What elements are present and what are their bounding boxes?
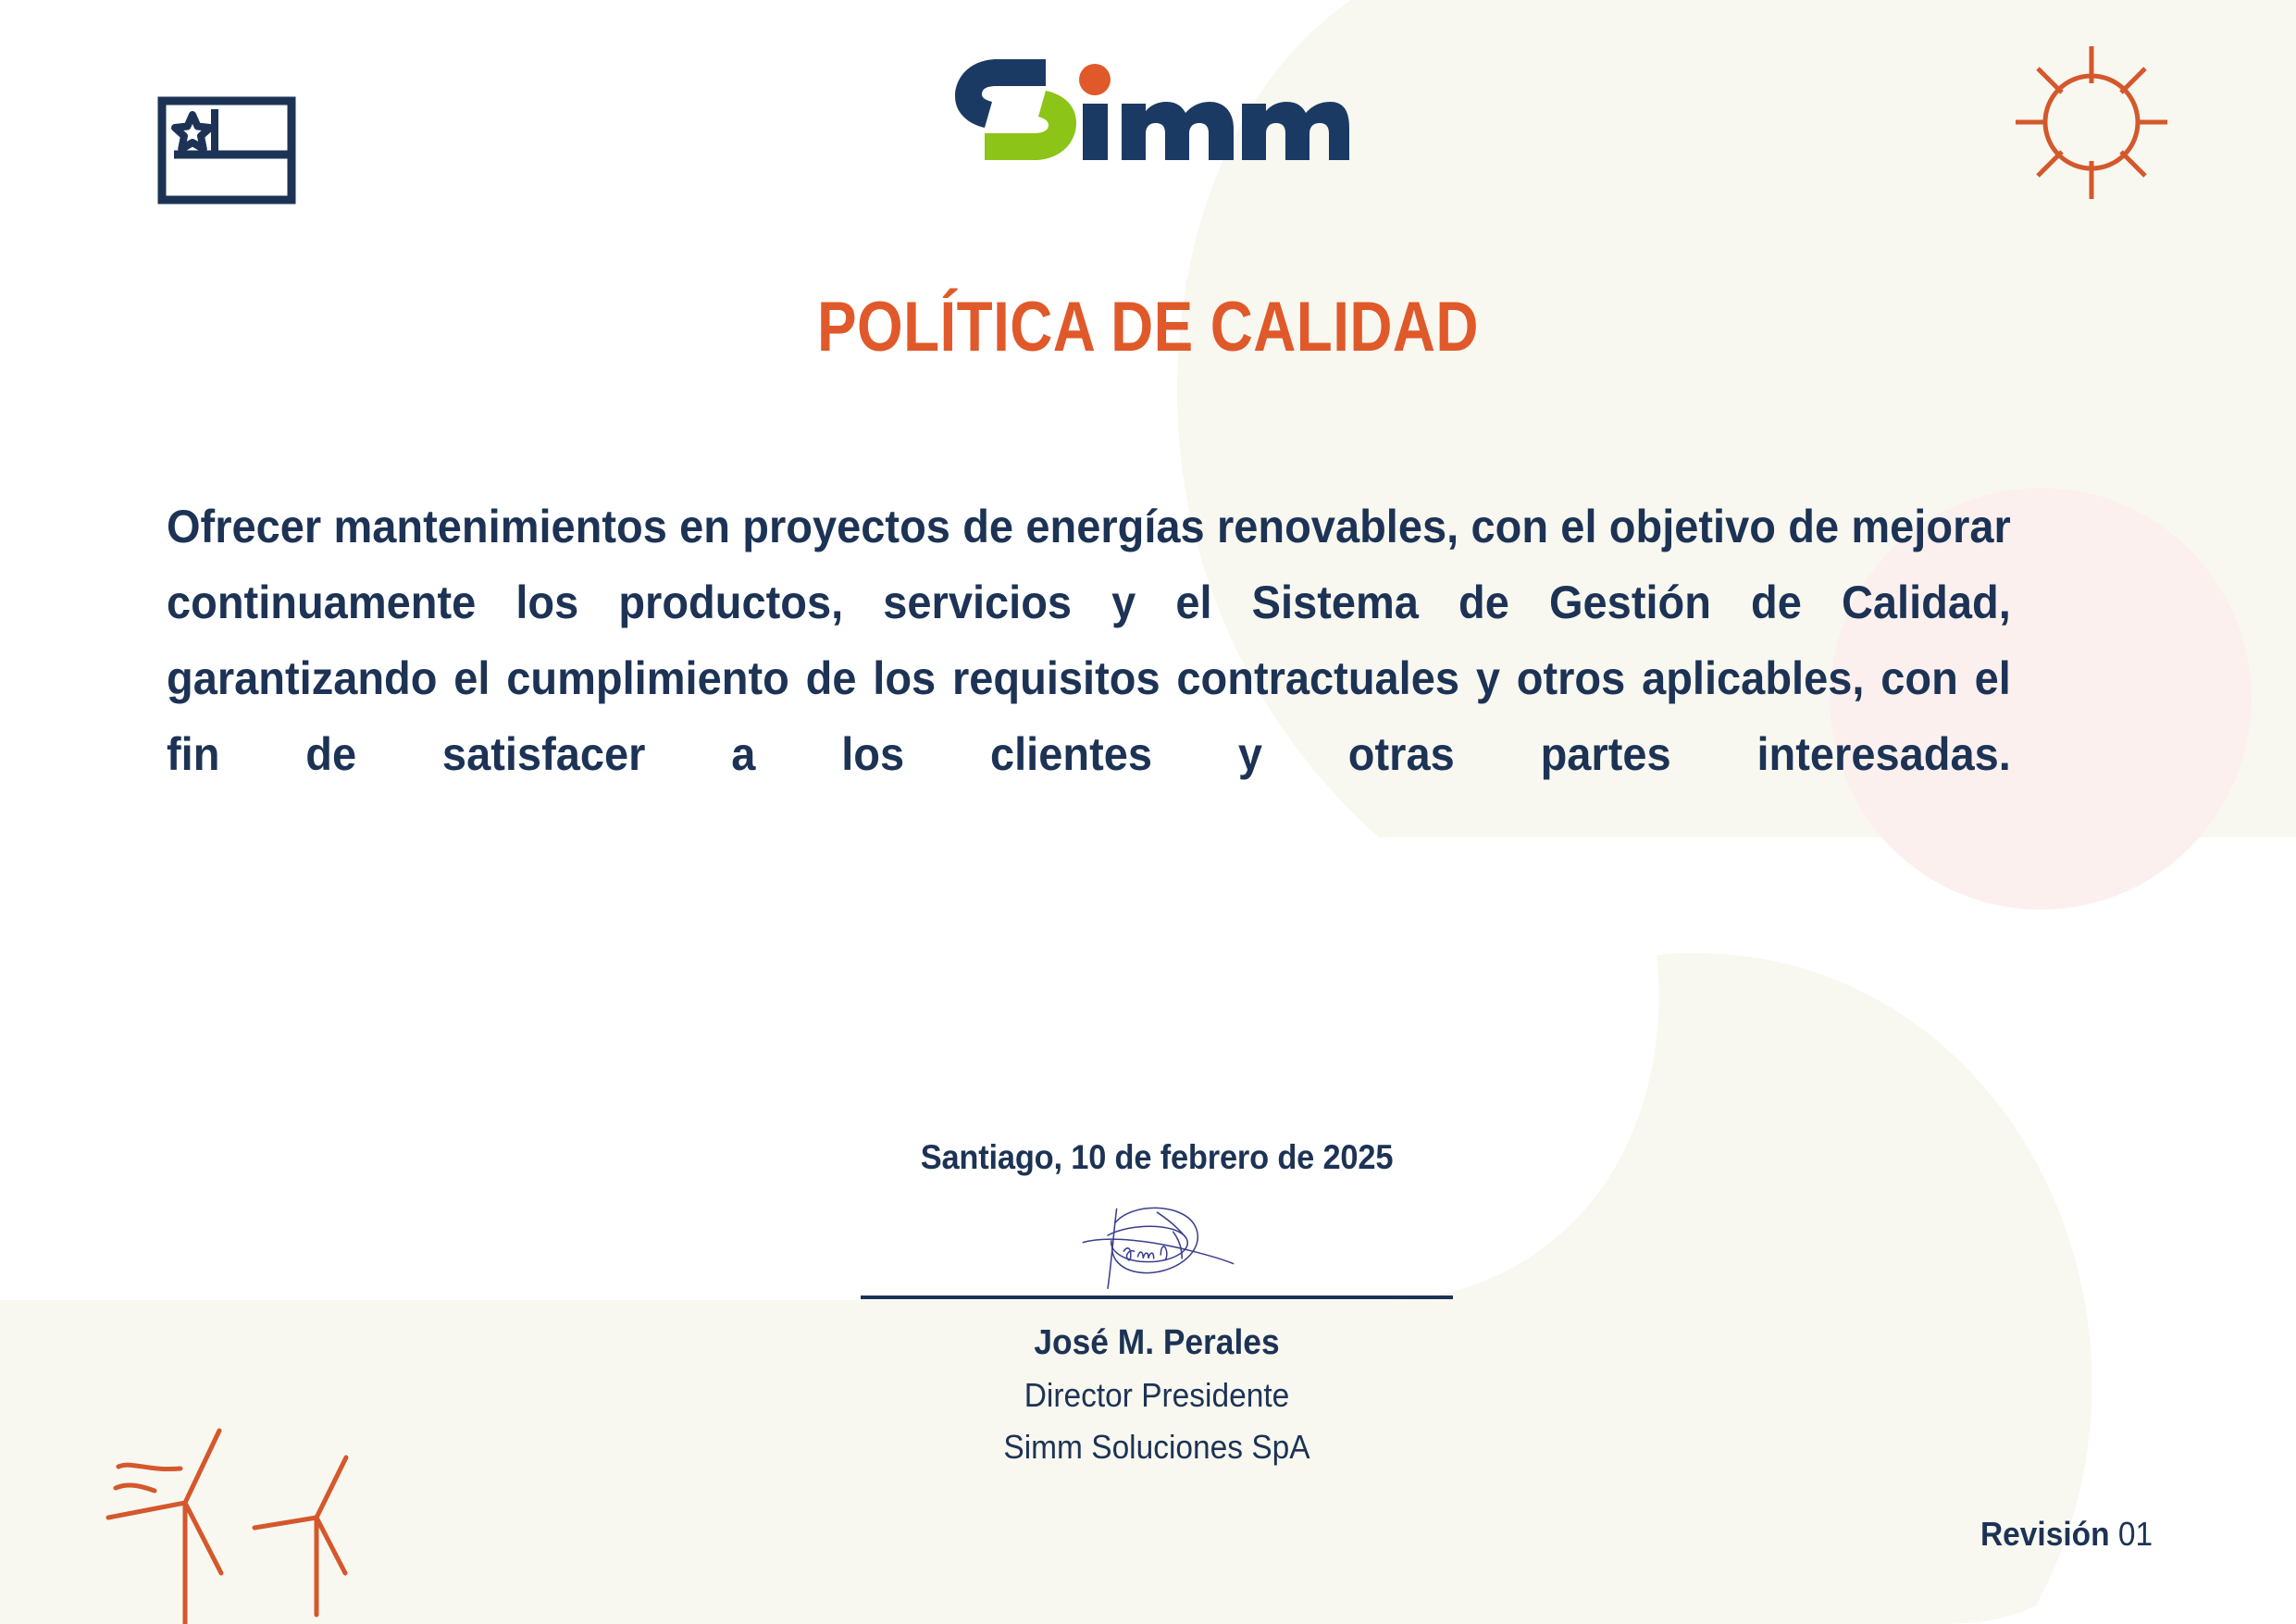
- logo-m2: [1242, 102, 1349, 160]
- logo-s-bottom: [985, 91, 1076, 160]
- signatory-company: Simm Soluciones SpA: [881, 1428, 1432, 1467]
- star-glyph: [175, 115, 210, 149]
- document-page: POLÍTICA DE CALIDAD Ofrecer mantenimient…: [0, 0, 2296, 1624]
- handwritten-signature-icon: [1067, 1196, 1247, 1294]
- signature-rule: [861, 1295, 1453, 1299]
- logo-dot: [1079, 64, 1111, 95]
- chile-flag-icon: [157, 96, 296, 205]
- revision-label-group: Revisión 01: [1980, 1515, 2153, 1554]
- signature-place-date: Santiago, 10 de febrero de 2025: [881, 1138, 1432, 1177]
- wind-turbine-icon: [79, 1399, 375, 1624]
- logo-i: [1083, 104, 1108, 160]
- revision-number: 01: [2118, 1515, 2153, 1553]
- signature-block: Santiago, 10 de febrero de 2025 José M: [861, 1138, 1453, 1467]
- logo-s-top: [955, 59, 1046, 128]
- page-title: POLÍTICA DE CALIDAD: [183, 287, 2112, 367]
- policy-body-text: Ofrecer mantenimientos en proyectos de e…: [167, 489, 2011, 868]
- signatory-role: Director Presidente: [881, 1376, 1432, 1415]
- sun-icon: [1999, 37, 2184, 208]
- logo-m1: [1122, 102, 1234, 160]
- revision-label: Revisión: [1980, 1515, 2110, 1553]
- signature-image-wrapper: [861, 1192, 1453, 1294]
- simm-logo: [953, 44, 1351, 169]
- signatory-name: José M. Perales: [881, 1323, 1432, 1363]
